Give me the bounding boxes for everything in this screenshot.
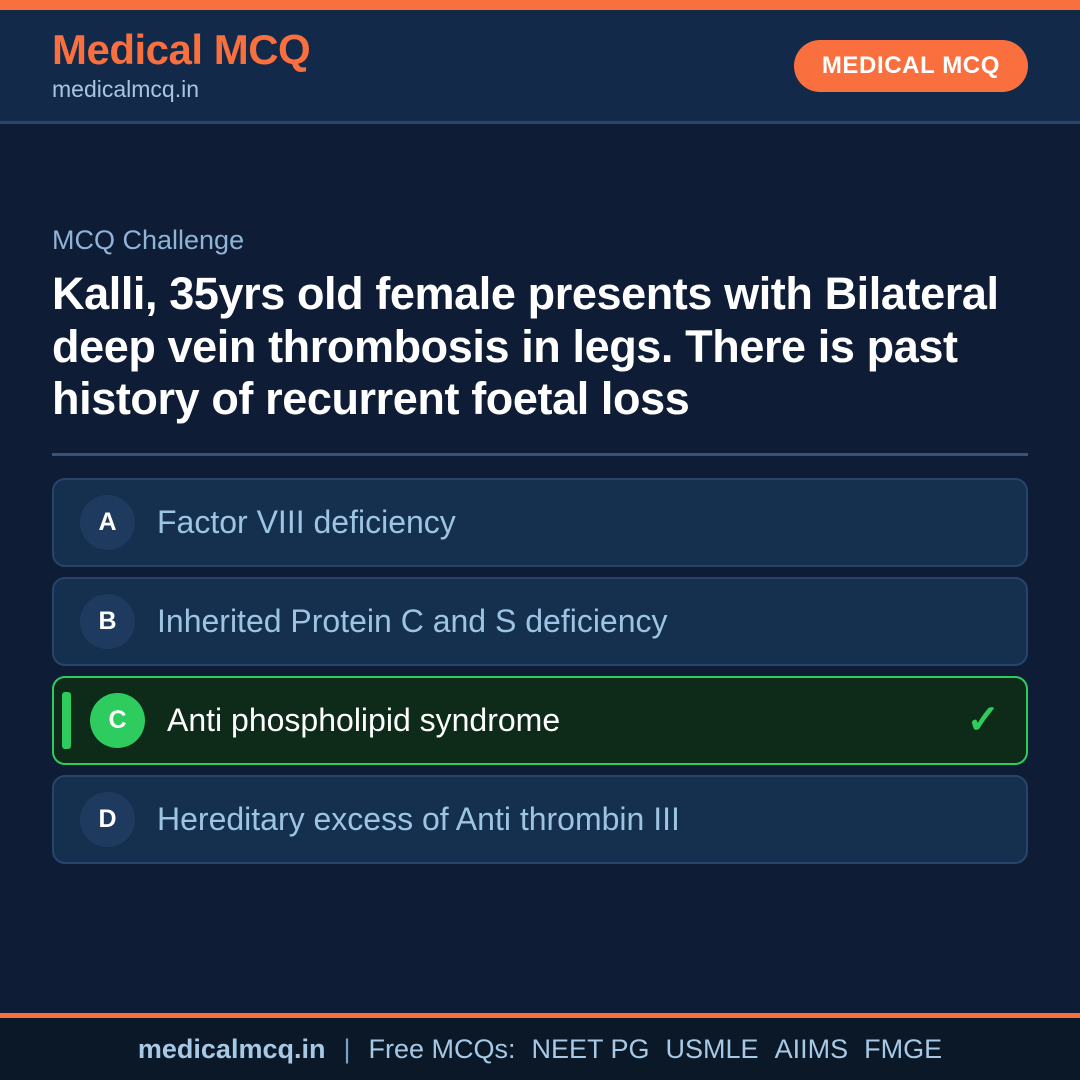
option-row-d[interactable]: D Hereditary excess of Anti thrombin III: [52, 775, 1028, 864]
footer-separator: |: [343, 1036, 350, 1063]
footer-exam-neet-pg: NEET PG: [532, 1036, 650, 1063]
page-footer: medicalmcq.in | Free MCQs: NEET PG USMLE…: [0, 1018, 1080, 1080]
brand-title: Medical MCQ: [52, 27, 310, 72]
option-label: Inherited Protein C and S deficiency: [157, 603, 988, 640]
option-row-a[interactable]: A Factor VIII deficiency: [52, 478, 1028, 567]
footer-exam-aiims: AIIMS: [775, 1036, 849, 1063]
footer-exam-fmge: FMGE: [864, 1036, 942, 1063]
check-icon: ✓: [966, 700, 1000, 740]
option-letter-badge: B: [80, 594, 135, 649]
main-content: MCQ Challenge Kalli, 35yrs old female pr…: [0, 124, 1080, 1013]
brand: Medical MCQ medicalmcq.in: [52, 27, 310, 103]
footer-prefix: Free MCQs:: [368, 1036, 515, 1063]
mcq-card: Medical MCQ medicalmcq.in MEDICAL MCQ MC…: [0, 0, 1080, 1080]
question-text: Kalli, 35yrs old female presents with Bi…: [52, 268, 1028, 425]
option-letter-badge: C: [90, 693, 145, 748]
section-divider: [52, 453, 1028, 456]
option-letter-badge: A: [80, 495, 135, 550]
header-badge: MEDICAL MCQ: [794, 40, 1028, 92]
top-accent-bar: [0, 0, 1080, 10]
footer-exam-usmle: USMLE: [666, 1036, 759, 1063]
option-label: Factor VIII deficiency: [157, 504, 988, 541]
option-label: Hereditary excess of Anti thrombin III: [157, 801, 988, 838]
option-row-c[interactable]: C Anti phospholipid syndrome ✓: [52, 676, 1028, 765]
option-label: Anti phospholipid syndrome: [167, 702, 954, 739]
eyebrow-label: MCQ Challenge: [52, 224, 1028, 256]
correct-accent-bar: [62, 692, 71, 749]
brand-subtitle: medicalmcq.in: [52, 75, 310, 104]
option-row-b[interactable]: B Inherited Protein C and S deficiency: [52, 577, 1028, 666]
page-header: Medical MCQ medicalmcq.in MEDICAL MCQ: [0, 10, 1080, 124]
footer-site-link[interactable]: medicalmcq.in: [138, 1036, 326, 1063]
option-letter-badge: D: [80, 792, 135, 847]
options-list: A Factor VIII deficiency B Inherited Pro…: [52, 478, 1028, 864]
